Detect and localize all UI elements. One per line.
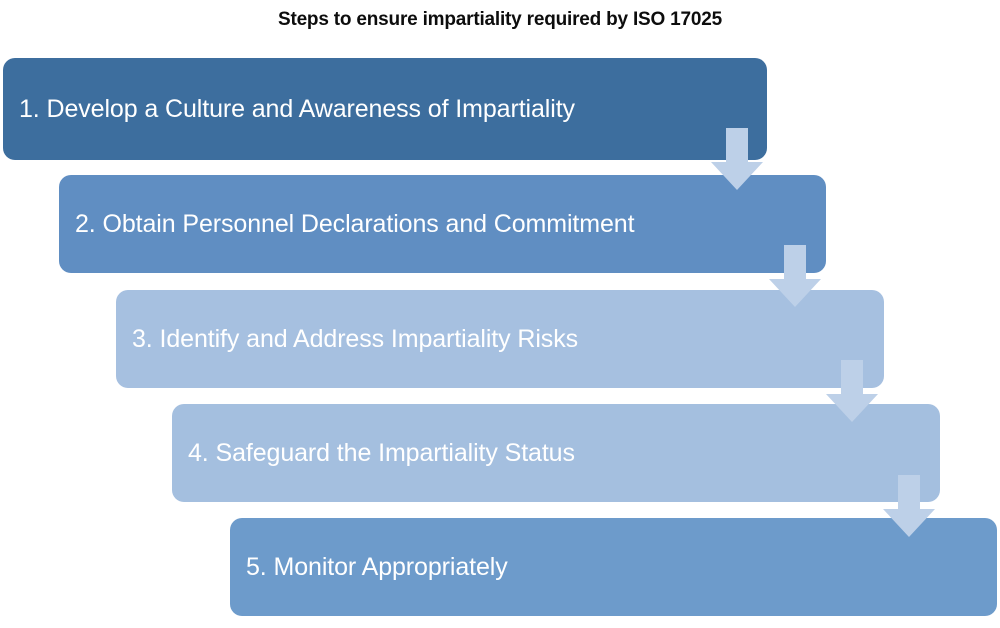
process-step-1-label: 1. Develop a Culture and Awareness of Im…: [3, 94, 575, 124]
process-step-2-label: 2. Obtain Personnel Declarations and Com…: [59, 209, 634, 239]
process-step-4[interactable]: 4. Safeguard the Impartiality Status: [172, 404, 940, 502]
process-step-5[interactable]: 5. Monitor Appropriately: [230, 518, 997, 616]
arrow-down-icon-4: [883, 475, 935, 537]
process-step-5-label: 5. Monitor Appropriately: [230, 552, 508, 582]
page-title: Steps to ensure impartiality required by…: [0, 8, 1000, 32]
arrow-down-icon-1: [711, 128, 763, 190]
arrow-down-icon-2: [769, 245, 821, 307]
process-step-3-label: 3. Identify and Address Impartiality Ris…: [116, 324, 578, 354]
arrow-down-icon-3: [826, 360, 878, 422]
process-step-1[interactable]: 1. Develop a Culture and Awareness of Im…: [3, 58, 767, 160]
process-step-4-label: 4. Safeguard the Impartiality Status: [172, 438, 575, 468]
diagram-canvas: Steps to ensure impartiality required by…: [0, 0, 1000, 628]
